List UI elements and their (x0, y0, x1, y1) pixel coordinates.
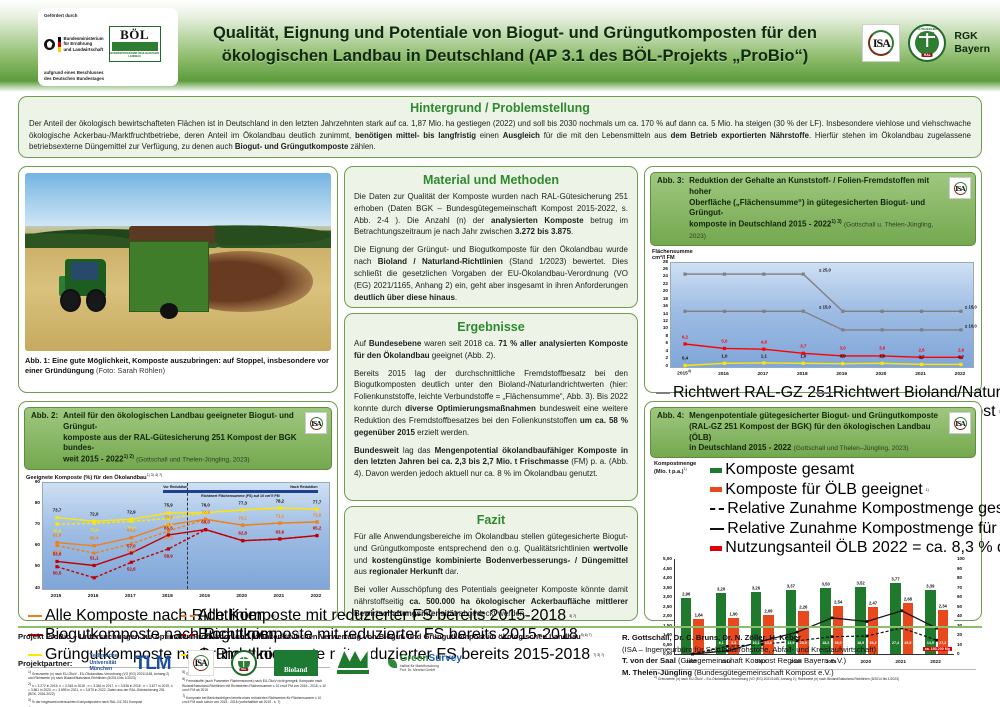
legend-swatch (710, 468, 722, 473)
abb3-number: Abb. 3: (657, 176, 684, 185)
data-label: 76,0 (201, 503, 210, 508)
legend-swatch (710, 528, 724, 530)
y-tick-label: 50 (35, 563, 40, 568)
er-t12: lag das (399, 446, 435, 455)
hintergrund-body: Der Anteil der ökologisch bewirtschaftet… (29, 118, 971, 153)
boel-subtitle: BUNDESPROGRAMM ÖKOLOGISCHER LANDBAU (110, 52, 160, 58)
abb4-number: Abb. 4: (657, 411, 684, 420)
abb2-header: Abb. 2: Anteil für den ökologischen Land… (24, 407, 332, 470)
material-body: Die Daten zur Qualität der Komposte wurd… (354, 191, 628, 303)
x-tick-label: 2017 (125, 594, 136, 599)
abb3-isa-logo: ISA (949, 177, 971, 199)
fz-t1: Für alle Anwendungsbereiche im Ökolandba… (354, 532, 628, 553)
legend-swatch (710, 546, 722, 551)
y-tick-label: 26 (663, 266, 668, 271)
abb2-number: Abb. 2: (31, 411, 58, 420)
abb4-title-l1: Mengenpotentiale gütegesicherter Biogut-… (689, 411, 938, 420)
abb2-y-axis: 405060708090 (26, 482, 42, 588)
fz-t4: kostengünstige kombinierte Bodenverbesse… (372, 556, 628, 565)
band-richtwert-label: Richtwert Flächensumme (FS) auf 10 cm²/l… (163, 494, 317, 498)
y2-tick-label: 70 (957, 585, 962, 590)
y-tick-label: 6 (665, 340, 668, 345)
data-label: 64,2 (127, 528, 136, 533)
data-label: 67,3 (164, 535, 173, 540)
rgk-line-1: RGK (954, 30, 990, 43)
x-tick-label: 2020 (876, 372, 887, 377)
threshold-annotation: ≤ 10,0 (965, 323, 977, 328)
tractor-rear-wheel (86, 289, 107, 312)
hg-t4: Ausgleich (503, 131, 540, 140)
data-label: 75,9 (164, 503, 173, 508)
naturland-leaf-icon (338, 651, 368, 668)
data-label: 5,0 (721, 339, 727, 344)
greensurvey-blue-text: Survey (429, 654, 462, 664)
tractor-window (71, 262, 98, 280)
y-tick-label: 3,50 (663, 585, 672, 590)
abb3-header: Abb. 3: Reduktion der Gehalte an Kunstst… (650, 172, 976, 246)
abb2-plot-area: 73,772,072,975,976,077,378,277,770,671,0… (42, 482, 330, 590)
authors-line-3-org: (Gütegemeinschaft Kompost Region Bayern … (676, 656, 846, 665)
y-tick-label: 5,00 (663, 556, 672, 561)
legend-swatch (181, 615, 195, 617)
funding-label: Gefördert durch (44, 13, 172, 18)
boel-green-bar (112, 42, 158, 51)
data-label: 1,0 (721, 353, 727, 358)
tum-line-1: Technische (89, 653, 117, 659)
abb4-ylabel-left-l2: (Mio. t p.a.) (654, 469, 684, 475)
poster-footer: Projekt ProBio – Untersuchungen zur opti… (18, 632, 982, 704)
data-label: 65,5 (164, 525, 173, 530)
greensurvey-logo: GreenSurvey Institut für Marktforschung … (388, 654, 462, 673)
isa-label: ISA (866, 28, 896, 58)
data-label: 70,1 (238, 515, 247, 520)
figure-abb4: Abb. 4: Mengenpotentiale gütegesicherter… (644, 401, 982, 621)
abb4-legend: Komposte gesamtKomposte für ÖLB geeignet… (696, 461, 1000, 557)
poster-title: Qualität, Eignung und Potentiale von Bio… (190, 22, 840, 69)
tum-name: Technische Universität München (89, 653, 117, 672)
x-tick-label: 2021 (915, 372, 926, 377)
data-label: 3,0 (840, 346, 846, 351)
figure-abb3: Abb. 3: Reduktion der Gehalte an Kunstst… (644, 166, 982, 393)
funding-logo-card: Gefördert durch Bundesministerium für Er… (38, 8, 178, 86)
title-line-2: ökologischen Landbau in Deutschland (AP … (190, 45, 840, 68)
abb1-caption-num: Abb. 1: (25, 356, 50, 365)
mm-t2: analysierten Komposte (491, 216, 583, 225)
legend-label: Komposte für ÖLB geeignet (725, 481, 922, 499)
legend-item: Relative Zunahme Kompostmenge gesamt geg… (710, 500, 1000, 518)
y-tick-label: 70 (35, 521, 40, 526)
abb1-caption-source: (Foto: Sarah Röhlen) (96, 366, 165, 375)
abb3-title-l2: Oberfläche („Flächensumme“) in gütegesic… (689, 198, 925, 218)
data-label: 61,3 (127, 548, 136, 553)
x-tick-label: 2016 (88, 594, 99, 599)
data-label: 62,8 (238, 531, 247, 536)
x-tick-label: 20154) (677, 369, 691, 377)
hg-t2: benötigen mittel- bis langfristig (355, 131, 476, 140)
y-tick-label: 4 (665, 348, 668, 353)
abb4-ylabel-left: Kompostmenge (Mio. t p.a.)1) (654, 461, 696, 475)
y2-tick-label: 90 (957, 566, 962, 571)
threshold-annotation: ≤ 15,0 (965, 305, 977, 310)
data-label: 3,7 (800, 343, 806, 348)
hg-t3: einen (476, 131, 503, 140)
hintergrund-title: Hintergrund / Problemstellung (29, 101, 971, 115)
rgk-line-2: Bayern (954, 43, 990, 56)
isa-label: ISA (308, 415, 325, 432)
section-ergebnisse: Ergebnisse Auf Bundesebene waren seit 20… (344, 313, 638, 501)
data-label: 60,4 (90, 536, 99, 541)
band-left-label: Vor Reduktion (163, 485, 187, 489)
figure-abb2: Abb. 2: Anteil für den ökologischen Land… (18, 401, 338, 621)
legend-item: Komposte für ÖLB geeignet1) (710, 481, 1000, 499)
fz-t3: und (354, 556, 372, 565)
fz-t2: wertvolle (593, 544, 628, 553)
y-tick-label: 12 (663, 318, 668, 323)
boel-logo: BÖL BUNDESPROGRAMM ÖKOLOGISCHER LANDBAU (109, 26, 161, 62)
fz-t6: regionaler Herkunft (369, 567, 443, 576)
band-right-label: Nach Reduktion (290, 485, 317, 489)
isa-label: ISA (952, 180, 969, 197)
abb4-isa-logo: ISA (949, 412, 971, 434)
data-label: 0,9 (840, 354, 846, 359)
legend-label: Komposte gesamt (725, 461, 854, 479)
material-title: Material und Methoden (354, 173, 628, 187)
x-tick-label: 2017 (758, 372, 769, 377)
poster-header: Gefördert durch Bundesministerium für Er… (0, 0, 1000, 92)
reduction-divider (187, 483, 188, 589)
legend-item: Alle Komposte mit reduzierter FS bereits… (181, 607, 328, 625)
er-t7: diverse Optimierungsmaßnahmen (405, 404, 536, 413)
data-label: 72,9 (127, 509, 136, 514)
fz-t5: aus (354, 567, 369, 576)
abb1-caption-text: Eine gute Möglichkeit, Komposte auszubri… (25, 356, 329, 375)
authors-line-4-name: M. Thelen-Jüngling (622, 668, 692, 677)
fz-t7: dar. (443, 567, 459, 576)
x-tick-label: 2016 (718, 372, 729, 377)
greensurvey-sub-2: Prof. Dr. Menrad GmbH (400, 668, 462, 672)
gk-ral-label: RAL (922, 53, 933, 57)
data-label: 52,6 (127, 566, 136, 571)
isa-label: ISA (952, 415, 969, 432)
data-label: 77,7 (313, 499, 322, 504)
data-label: 58,9 (164, 553, 173, 558)
authors-block: R. Gottschall, Dr. C. Bruns, Dr. N. Zöll… (622, 632, 982, 679)
data-label: 50,5 (53, 571, 62, 576)
data-label: 0,4 (682, 356, 688, 361)
partner-label: Projektpartner: (18, 659, 72, 668)
data-label: 72,0 (90, 511, 99, 516)
er-t10: erzielt werden. (415, 428, 469, 437)
isa-logo-footer: ISA (188, 650, 214, 676)
guetezeichen-kompost-logo: GÜTEZEICHEN KOMPOST RAL (908, 24, 946, 62)
ergebnisse-body: Auf Bundesebene waren seit 2018 ca. 71 %… (354, 338, 628, 480)
x-tick-label: 2019 (199, 594, 210, 599)
mm-t9: deutlich über diese hinaus (354, 293, 455, 302)
abb4-header: Abb. 4: Mengenpotentiale gütegesicherter… (650, 407, 976, 458)
header-right-logos: ISA GÜTEZEICHEN KOMPOST RAL RGK Bayern (862, 24, 990, 62)
photo-trailer-wheel (160, 303, 178, 319)
tractor-front-wheel (60, 289, 81, 312)
mm-t10: . (455, 293, 457, 302)
tractor-compost-photo (25, 173, 331, 351)
mm-t5: . (571, 227, 573, 236)
hg-t9: zählen. (348, 142, 375, 151)
authors-line-2: (ISA – Ingenieurbüro für Sekundärrohstof… (622, 645, 876, 654)
data-label: 65,2 (313, 526, 322, 531)
legend-sup: 1) (926, 488, 929, 492)
photo-tractor (59, 251, 139, 312)
decision-line-2: des Deutschen Bundestages (44, 76, 172, 82)
abb2-title-l3: weit 2015 - 2022 (63, 455, 123, 464)
y-tick-label: 2,00 (663, 613, 672, 618)
abb3-title-sup: 1) 3) (831, 219, 841, 225)
data-label: 2,6 (958, 347, 964, 352)
x-tick-label: 2021 (274, 594, 285, 599)
y-tick-label: 16 (663, 303, 668, 308)
data-label: 57,0 (127, 543, 136, 548)
hg-t5: für die mit den Lebensmitteln aus (540, 131, 671, 140)
abb3-ylabel-l2: cm²/l FM (652, 255, 976, 261)
y-tick-label: 20 (663, 288, 668, 293)
abb3-ylabel: Flächensumme cm²/l FM (652, 249, 976, 261)
abb2-ylabel: Geeignete Komposte (%) für den Ökolandba… (26, 473, 332, 481)
er-t2: Bundesebene (369, 339, 421, 348)
y2-tick-label: 50 (957, 604, 962, 609)
abb4-title-l3: in Deutschland 2015 - 2022 (689, 443, 791, 452)
legend-item: Alle Komposte nach Richtlinien3) 4) (28, 607, 175, 625)
abb4-ylabel-left-sup: 1) (684, 467, 687, 471)
ergebnisse-title: Ergebnisse (354, 320, 628, 334)
section-fazit: Fazit Für alle Anwendungsbereiche im Öko… (344, 506, 638, 621)
y-tick-label: 14 (663, 311, 668, 316)
isa-logo: ISA (862, 24, 900, 62)
data-label: 63,6 (276, 529, 285, 534)
threshold-annotation: ≤ 15,0 (819, 305, 831, 310)
authors-line-4-org: (Bundesgütegemeinschaft Kompost e.V.) (692, 668, 834, 677)
er-t1: Auf (354, 339, 369, 348)
gk-ral-label: RAL (239, 668, 248, 671)
greensurvey-green-text: Green (400, 654, 429, 664)
y-tick-label: 4,50 (663, 566, 672, 571)
y2-tick-label: 40 (957, 613, 962, 618)
rgk-bayern-label: RGK Bayern (954, 30, 990, 56)
y-tick-label: 3,00 (663, 594, 672, 599)
data-label: 61,9 (53, 533, 62, 538)
y-tick-label: 60 (35, 542, 40, 547)
legend-item: Nutzungsanteil ÖLB 2022 = ca. 8,3 % des … (710, 539, 1000, 557)
y-tick-label: 90 (35, 479, 40, 484)
data-label: 53,0 (53, 552, 62, 557)
authors-line-1: R. Gottschall, Dr. C. Bruns, Dr. N. Zöll… (622, 633, 801, 642)
abb3-plot-area: 6,25,04,83,73,03,02,62,60,41,01,11,00,91… (670, 262, 974, 368)
abb4-title-source: (Gottschall und Thelen–Jüngling, 2023) (794, 445, 909, 452)
hg-t6: dem Betrieb exportierten Nährstoffe (671, 131, 809, 140)
data-label: 4,8 (761, 339, 767, 344)
bioland-label: Bioland (284, 666, 307, 676)
mm-t4: 3.272 bis 3.875 (515, 227, 571, 236)
y-tick-label: 2 (665, 355, 668, 360)
tum-line-3: München (89, 666, 117, 672)
x-tick-label: 2019 (836, 372, 847, 377)
legend-label: Relative Zunahme Kompostmenge gesamt geg… (727, 500, 1000, 518)
er-t5: geeignet (Abb. 2). (430, 351, 496, 360)
legend-swatch (816, 392, 830, 394)
y-tick-label: 10 (663, 325, 668, 330)
bioland-logo: Bioland (274, 650, 318, 676)
greensurvey-leaf-icon (388, 659, 397, 668)
tum-logo-icon: TLM (135, 654, 171, 673)
y2-tick-label: 80 (957, 575, 962, 580)
bmel-logo: Bundesministerium für Ernährung und Land… (44, 36, 104, 52)
boel-wordmark: BÖL (120, 28, 149, 41)
x-tick-label: 2018 (797, 372, 808, 377)
data-label: 77,3 (238, 500, 247, 505)
legend-swatch (656, 392, 670, 394)
data-label: 1,0 (800, 353, 806, 358)
title-line-1: Qualität, Eignung und Potentiale von Bio… (190, 22, 840, 45)
abb3-title-l3: komposte in Deutschland 2015 - 2022 (689, 220, 831, 229)
data-label: 73,7 (53, 508, 62, 513)
abb3-title-l1: Reduktion der Gehalte an Kunststoff- / F… (689, 176, 929, 196)
reduction-band: Vor ReduktionNach ReduktionRichtwert Flä… (163, 485, 317, 498)
data-label: 2,6 (919, 347, 925, 352)
threshold-annotation: ≤ 25,0 (819, 268, 831, 273)
abb2-isa-logo: ISA (305, 412, 327, 434)
legend-item: Relative Zunahme Kompostmenge für ÖLB ge… (710, 520, 1000, 538)
data-label: 78,2 (276, 498, 285, 503)
data-label: 0,7 (919, 355, 925, 360)
legend-label: Alle Komposte mit reduzierter FS bereits… (198, 607, 566, 625)
x-tick-label: 2018 (162, 594, 173, 599)
y-tick-label: 22 (663, 281, 668, 286)
data-label: 1,0 (879, 353, 885, 358)
data-label: 71,6 (313, 512, 322, 517)
guetezeichen-kompost-logo-footer: RAL (231, 650, 257, 676)
y-tick-label: 24 (663, 273, 668, 278)
abb2-ylabel-text: Geeignete Komposte (%) für den Ökolandba… (26, 475, 147, 481)
section-material-methoden: Material und Methoden Die Daten zur Qual… (344, 166, 638, 308)
legend-label: Richtwert Bioland/Naturland (833, 384, 1000, 402)
abb2-title-sup: 1) 2) (124, 454, 134, 460)
abb4-title-l2: (RAL-GZ 251 Kompost der BGK) für den öko… (689, 422, 930, 442)
legend-label: Relative Zunahme Kompostmenge für ÖLB ge… (727, 520, 1000, 538)
data-label: 0,7 (958, 355, 964, 360)
abb2-title-l1: Anteil für den ökologischen Landbau geei… (63, 411, 294, 431)
legend-item: Richtwert Bioland/Naturland1) (816, 384, 970, 402)
data-label: 71,1 (276, 513, 285, 518)
photo-spreader-trailer (129, 241, 209, 312)
y2-tick-label: 100 (957, 556, 965, 561)
data-label: 3,0 (879, 346, 885, 351)
abb1-caption: Abb. 1: Eine gute Möglichkeit, Komposte … (25, 356, 331, 377)
legend-swatch (710, 508, 724, 510)
abb2-ylabel-sup: 1) 3) 4) 7) (147, 473, 163, 477)
abb2-title-l2: komposte aus der RAL-Gütesicherung 251 K… (63, 433, 296, 453)
ministry-line-3: und Landwirtschaft (64, 47, 104, 52)
fazit-title: Fazit (354, 513, 628, 527)
section-hintergrund: Hintergrund / Problemstellung Der Anteil… (18, 96, 982, 158)
gk-scale-beam-icon (919, 36, 935, 38)
er-t11: Bundesweit (354, 446, 399, 455)
x-tick-label: 2022 (955, 372, 966, 377)
federal-eagle-icon (44, 39, 55, 50)
figure-abb1: Abb. 1: Eine gute Möglichkeit, Komposte … (18, 166, 338, 393)
data-label: 6,2 (682, 334, 688, 339)
legend-label: Richtwert RAL-GZ 251 (673, 384, 834, 402)
legend-swatch (28, 615, 42, 617)
er-t3: waren seit 2018 ca. (421, 339, 498, 348)
legend-label: Nutzungsanteil ÖLB 2022 = ca. 8,3 % des … (725, 539, 1000, 557)
hg-t8: Biogut- und Grüngutkomposte (235, 142, 348, 151)
legend-swatch (710, 487, 722, 492)
german-flag-icon (58, 37, 61, 52)
data-label: 71,0 (90, 527, 99, 532)
y2-tick-label: 60 (957, 594, 962, 599)
data-label: 70,3 (164, 515, 173, 520)
poster-root: Gefördert durch Bundesministerium für Er… (0, 0, 1000, 707)
footer-divider (18, 626, 982, 628)
x-tick-label: 2015 (51, 594, 62, 599)
naturland-bar-icon (337, 670, 369, 674)
data-label: 1,1 (761, 353, 767, 358)
abb2-title-source: (Gottschall und Thelen-Jüngling, 2023) (136, 457, 250, 464)
data-label: 51,1 (90, 556, 99, 561)
gk-scale-beam-icon (238, 659, 249, 661)
mm-t7: Bioland / Naturland-Richtlinien (378, 257, 503, 266)
y-tick-label: 80 (35, 500, 40, 505)
y-tick-label: 4,00 (663, 575, 672, 580)
y-tick-label: 8 (665, 333, 668, 338)
naturland-logo (335, 650, 371, 676)
abb2-x-axis: 20152016201720182019202020212022 (42, 590, 330, 599)
authors-line-3-name: T. von der Saal (622, 656, 676, 665)
abb3-y-axis: 0246810121416182022242628 (652, 262, 670, 366)
y-tick-label: 40 (35, 585, 40, 590)
isa-label: ISA (191, 653, 211, 673)
y-tick-label: 28 (663, 259, 668, 264)
x-tick-label: 2020 (236, 594, 247, 599)
y-tick-label: 2,50 (663, 604, 672, 609)
data-label: 68,0 (201, 520, 210, 525)
abb3-x-axis: 20154)2016201720182019202020212022 (670, 368, 974, 377)
legend-item: Komposte gesamt (710, 461, 1000, 479)
data-label: 72,9 (201, 509, 210, 514)
legend-sup: 3) 7) (569, 614, 576, 618)
y-tick-label: 18 (663, 296, 668, 301)
legend-item: Richtwert RAL-GZ 251 (656, 384, 810, 402)
x-tick-label: 2022 (311, 594, 322, 599)
y-tick-label: 0 (665, 363, 668, 368)
